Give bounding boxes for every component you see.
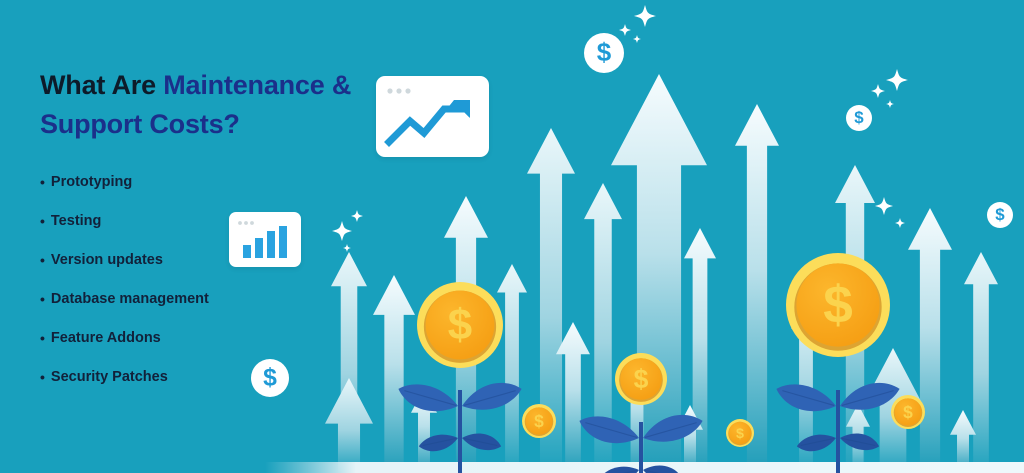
list-item-label: Version updates [51,252,163,269]
list-item: •Prototyping [40,174,370,191]
page-title: What Are Maintenance & Support Costs? [40,66,370,144]
list-item: •Version updates [40,252,370,269]
list-item: •Testing [40,213,370,230]
coin-tiny-right: $ [891,395,925,429]
dollar-badge-right-edge: $ [987,202,1013,228]
dollar-badge-top-center: $ [584,33,624,73]
line-chart-card-icon [376,76,489,157]
coin-tiny-mid: $ [726,419,754,447]
list-item-label: Database management [51,291,209,308]
heading-line2-accent: Support Costs? [40,109,240,139]
heading-line1-accent: Maintenance & [163,70,351,100]
banner-canvas: $$$$$$ $$$$ What Are Maintenan [0,0,1024,473]
coin-dollar-glyph: $ [823,276,853,335]
dollar-badge-upper-right: $ [846,105,872,131]
coin-medium-left: $ [417,282,503,368]
coin-large-right: $ [786,253,890,357]
bullet-dot-icon: • [40,213,45,230]
bullet-dot-icon: • [40,174,45,191]
text-column: What Are Maintenance & Support Costs? •P… [40,66,370,408]
list-item-label: Prototyping [51,174,132,191]
coin-dollar-glyph: $ [736,426,744,442]
coin-small-center: $ [615,353,667,405]
badge-dollar-glyph: $ [597,37,612,67]
coin-dollar-glyph: $ [534,411,544,431]
bullet-dot-icon: • [40,330,45,347]
list-item-label: Feature Addons [51,330,161,347]
bullet-dot-icon: • [40,252,45,269]
list-item-label: Testing [51,213,101,230]
heading-line1-plain: What Are [40,70,163,100]
list-item: •Security Patches [40,369,370,386]
list-item: •Feature Addons [40,330,370,347]
cost-items-list: •Prototyping•Testing•Version updates•Dat… [40,174,370,386]
badge-dollar-glyph: $ [995,205,1005,224]
coin-tiny-left: $ [522,404,556,438]
list-item-label: Security Patches [51,369,168,386]
coin-dollar-glyph: $ [448,301,472,350]
list-item: •Database management [40,291,370,308]
bullet-dot-icon: • [40,291,45,308]
bullet-dot-icon: • [40,369,45,386]
coin-dollar-glyph: $ [634,364,649,394]
badge-dollar-glyph: $ [854,108,864,127]
coin-dollar-glyph: $ [903,402,913,422]
